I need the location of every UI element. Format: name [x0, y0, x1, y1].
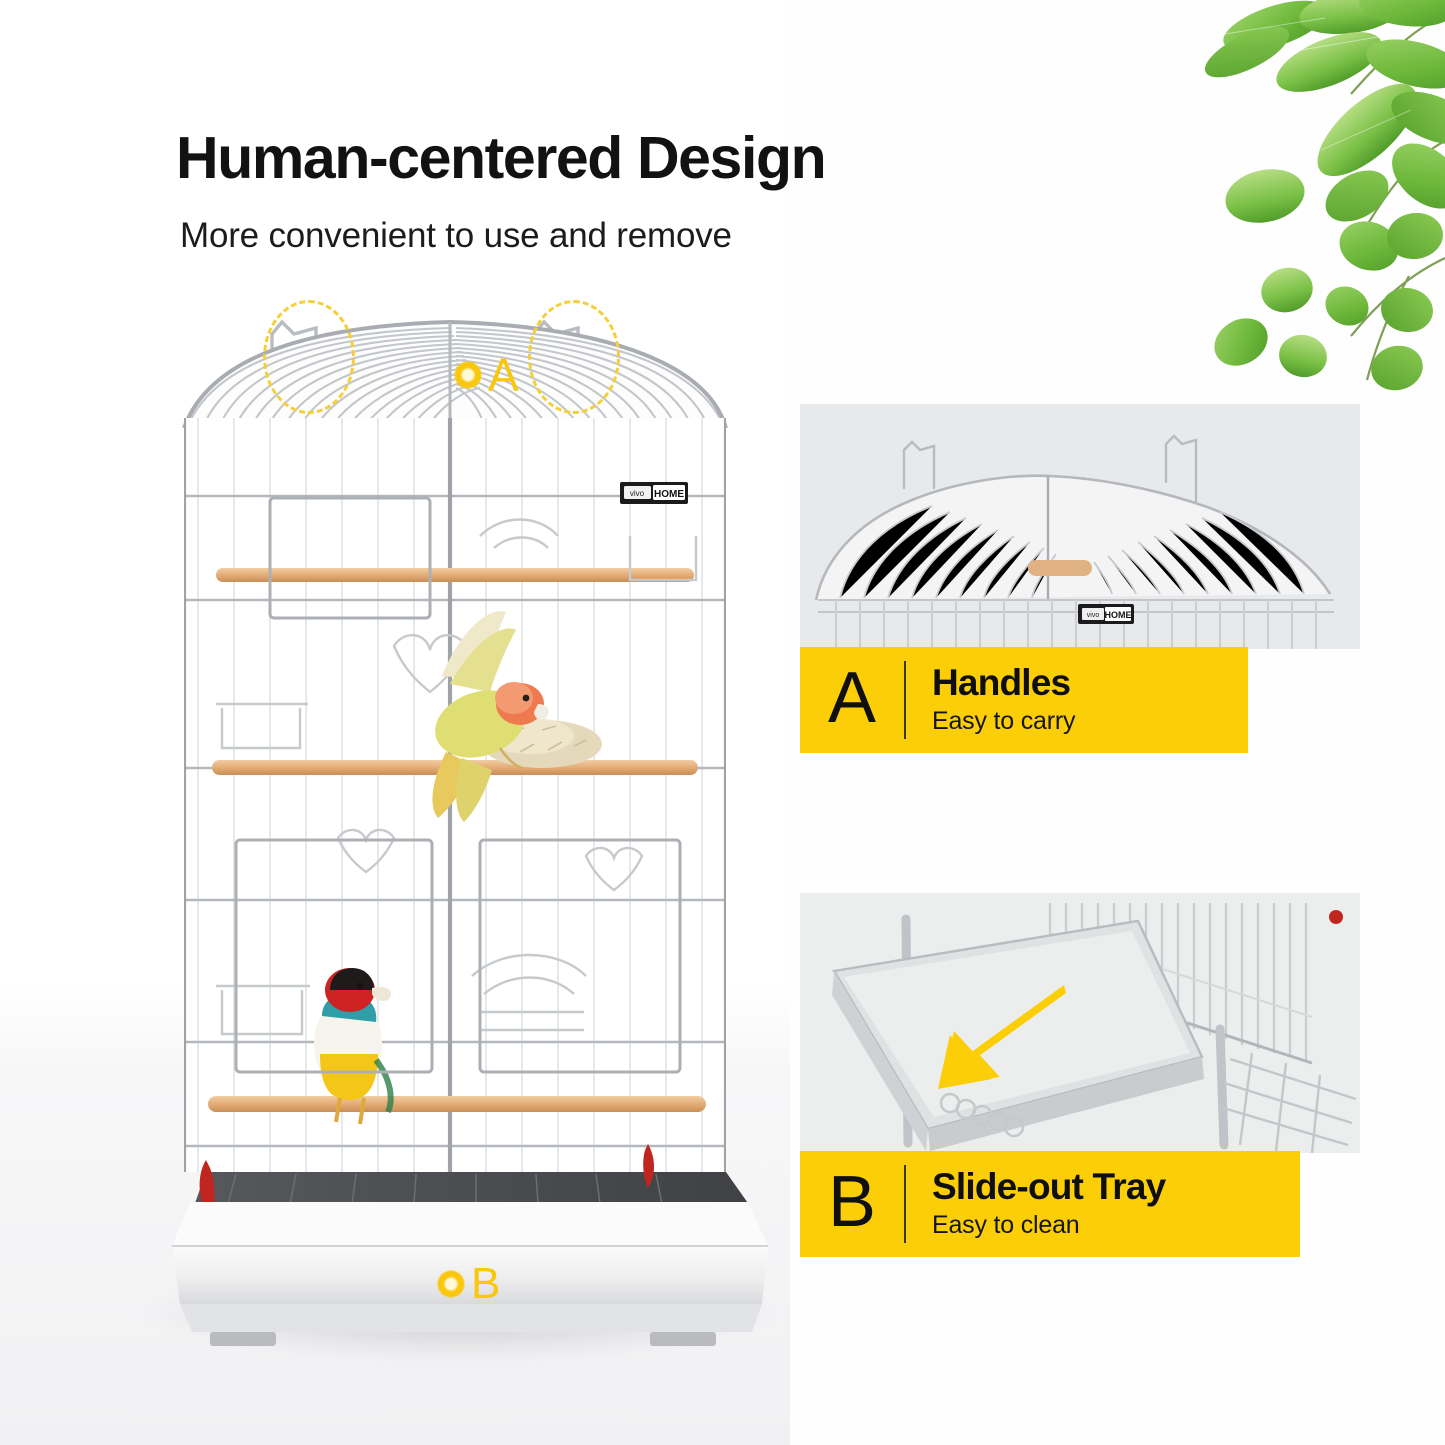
page-subtitle: More convenient to use and remove [180, 216, 1076, 256]
panel-b-photo [800, 893, 1360, 1153]
svg-text:vivo: vivo [1087, 612, 1100, 619]
brand-plate: vivo HOME [620, 482, 688, 504]
marker-a-label: A [488, 352, 519, 398]
infographic-canvas: Human-centered Design More convenient to… [0, 0, 1445, 1445]
feature-badge-b: B Slide-out Tray Easy to clean [800, 1151, 1300, 1257]
badge-a-letter: A [800, 647, 904, 753]
handle-highlight-right [528, 300, 620, 414]
panel-a-photo: vivo HOME [800, 404, 1360, 649]
badge-a-title: Handles [932, 664, 1248, 703]
badge-b-subtitle: Easy to clean [932, 1211, 1300, 1240]
main-product-image: vivo HOME [150, 300, 790, 1360]
badge-b-letter: B [800, 1151, 904, 1257]
badge-a-subtitle: Easy to carry [932, 707, 1248, 736]
feature-panel-b: B Slide-out Tray Easy to clean [800, 893, 1360, 1257]
marker-b: B [438, 1262, 500, 1306]
feature-panel-a: vivo HOME A Handles Easy to carry [800, 404, 1360, 753]
marker-a: A [455, 352, 519, 398]
page-title: Human-centered Design [176, 128, 1076, 190]
badge-b-title: Slide-out Tray [932, 1168, 1300, 1207]
marker-dot-icon [438, 1271, 464, 1297]
tray-grate [194, 1172, 750, 1206]
heading-block: Human-centered Design More convenient to… [176, 128, 1076, 256]
svg-text:vivo: vivo [630, 489, 645, 498]
handle-highlight-left [263, 300, 355, 414]
leaf-branch-decoration [1201, 0, 1445, 410]
marker-dot-icon [455, 362, 481, 388]
svg-text:HOME: HOME [654, 489, 684, 500]
marker-b-label: B [471, 1262, 500, 1306]
svg-text:HOME: HOME [1105, 610, 1132, 620]
badge-divider [904, 661, 906, 739]
badge-divider [904, 1165, 906, 1243]
feature-badge-a: A Handles Easy to carry [800, 647, 1248, 753]
